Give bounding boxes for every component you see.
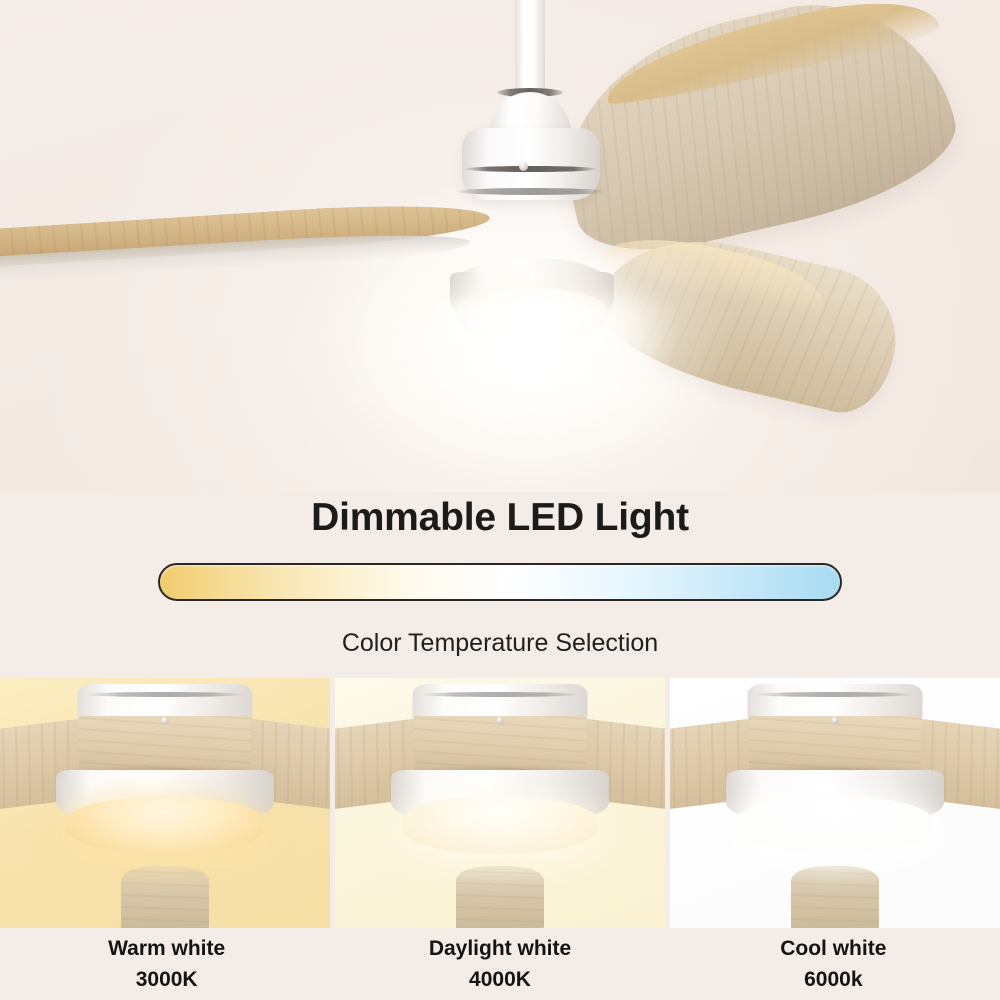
panel-led-light-diffuser <box>402 796 598 854</box>
fan-downrod <box>515 0 545 94</box>
panel-led-light-diffuser <box>67 796 263 854</box>
panel-fan-motor-seam <box>420 692 580 697</box>
page-subtitle: Color Temperature Selection <box>0 629 1000 658</box>
panel-fan-motor-seam <box>755 692 915 697</box>
color-temperature-gradient-bar[interactable] <box>158 563 842 601</box>
panel-fan-blade-lower <box>121 866 209 928</box>
caption-label: Daylight white <box>429 937 571 961</box>
caption-temperature: 3000K <box>136 968 198 992</box>
panel-fan-blade-center <box>79 716 251 774</box>
caption-temperature: 4000K <box>469 968 531 992</box>
caption-temperature: 6000k <box>804 968 862 992</box>
led-light-glow-bloom <box>360 300 700 492</box>
panel-fan-blade-lower <box>456 866 544 928</box>
caption-cool-white: Cool white 6000k <box>667 928 1000 1000</box>
panel-fan-motor-screw <box>832 717 839 724</box>
panel-fan-motor-screw <box>497 717 504 724</box>
page-title: Dimmable LED Light <box>0 496 1000 540</box>
product-infographic: Dimmable LED Light Color Temperature Sel… <box>0 0 1000 1000</box>
color-temperature-panel-strip <box>0 678 1000 928</box>
caption-label: Warm white <box>108 937 225 961</box>
fan-motor-seam-line <box>464 166 598 172</box>
panel-fan-blade-center <box>749 716 921 774</box>
panel-fan-blade-lower <box>791 866 879 928</box>
panel-fan-blade-center <box>414 716 586 774</box>
panel-led-light-diffuser <box>737 796 933 854</box>
caption-warm-white: Warm white 3000K <box>0 928 333 1000</box>
panel-warm-white[interactable] <box>0 678 330 928</box>
panel-fan-motor-seam <box>85 692 245 697</box>
panel-daylight-white[interactable] <box>335 678 665 928</box>
caption-daylight-white: Daylight white 4000K <box>333 928 666 1000</box>
caption-label: Cool white <box>780 937 886 961</box>
panel-captions: Warm white 3000K Daylight white 4000K Co… <box>0 928 1000 1000</box>
panel-cool-white[interactable] <box>670 678 1000 928</box>
panel-fan-motor-screw <box>162 717 169 724</box>
fan-motor-lower-seam <box>455 188 607 195</box>
fan-motor-screw <box>519 162 528 171</box>
hero-product-photo <box>0 0 1000 492</box>
